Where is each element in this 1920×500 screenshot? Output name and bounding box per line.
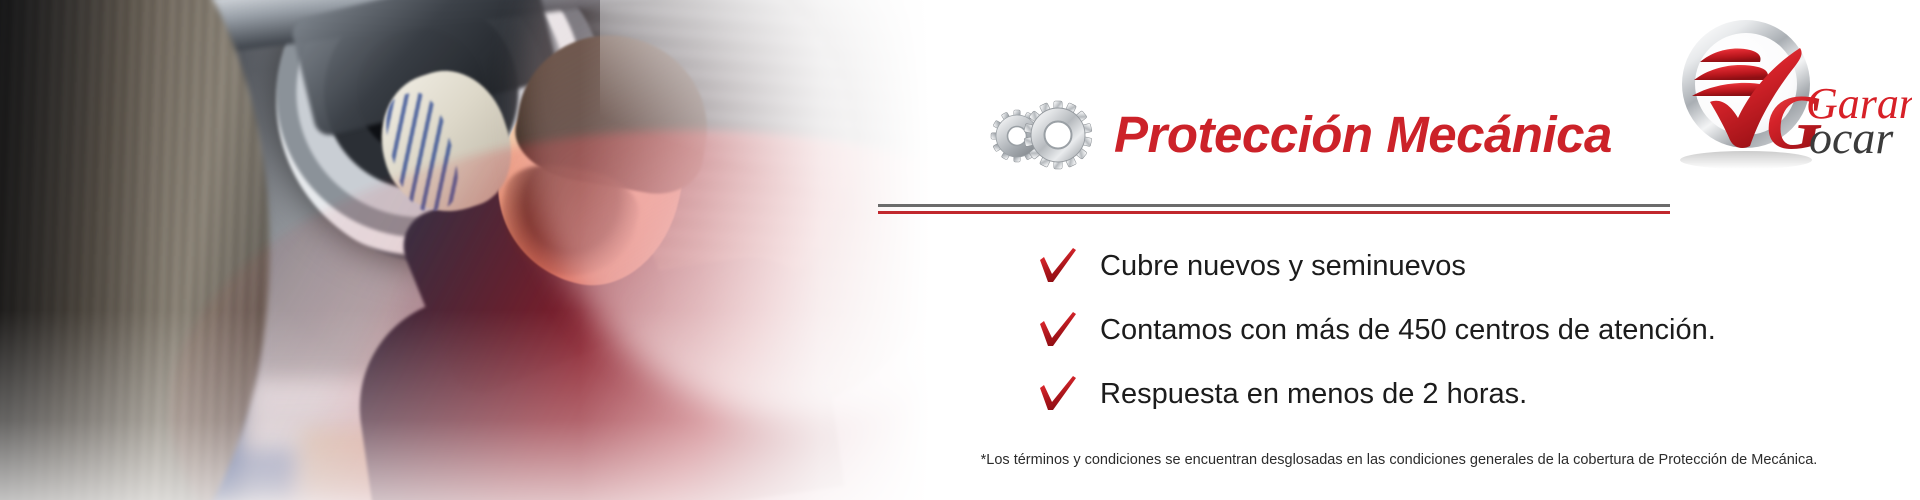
hero-photo bbox=[0, 0, 1000, 500]
title-row: Protección Mecánica bbox=[988, 95, 1612, 173]
list-item-label: Contamos con más de 450 centros de atenc… bbox=[1100, 316, 1716, 345]
photo-right-fade bbox=[0, 0, 1000, 500]
list-item: Cubre nuevos y seminuevos bbox=[1038, 246, 1716, 286]
logo-word-dark: ocar bbox=[1809, 112, 1894, 163]
list-item: Respuesta en menos de 2 horas. bbox=[1038, 374, 1716, 414]
legal-disclaimer: *Los términos y condiciones se encuentra… bbox=[878, 452, 1920, 468]
promo-banner: Protección Mecánica bbox=[0, 0, 1920, 500]
brand-logo[interactable]: G Garantí ocar bbox=[1654, 10, 1912, 175]
divider-rule-red bbox=[878, 211, 1670, 214]
check-icon bbox=[1038, 374, 1078, 414]
divider-rule-dark bbox=[878, 204, 1670, 207]
title-divider bbox=[878, 204, 1670, 214]
check-icon bbox=[1038, 246, 1078, 286]
gears-icon bbox=[988, 95, 1096, 173]
benefits-list: Cubre nuevos y seminuevos Contamos con m bbox=[1038, 246, 1716, 414]
page-title: Protección Mecánica bbox=[1114, 109, 1612, 160]
list-item-label: Cubre nuevos y seminuevos bbox=[1100, 252, 1466, 281]
list-item: Contamos con más de 450 centros de atenc… bbox=[1038, 310, 1716, 350]
list-item-label: Respuesta en menos de 2 horas. bbox=[1100, 380, 1527, 409]
check-icon bbox=[1038, 310, 1078, 350]
